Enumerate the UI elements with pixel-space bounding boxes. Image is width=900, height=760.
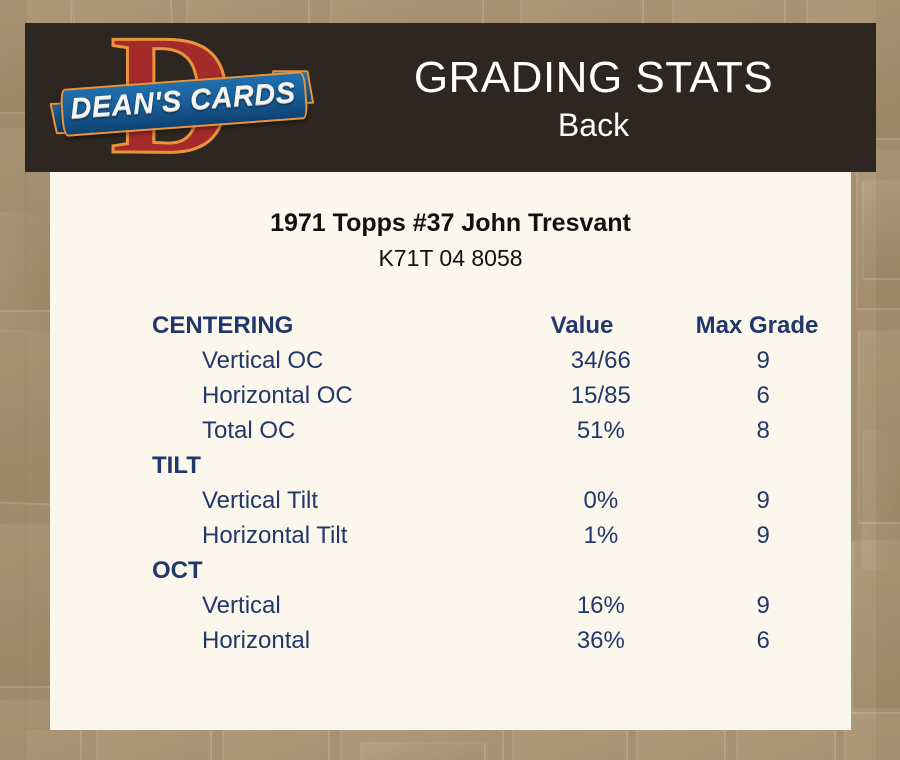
row-value: 34/66 xyxy=(517,347,684,375)
row-value: 1% xyxy=(517,522,684,550)
content-panel: 1971 Topps #37 John Tresvant K71T 04 805… xyxy=(50,172,851,730)
row-value: 15/85 xyxy=(517,382,684,410)
row-label: Horizontal xyxy=(152,627,517,655)
grading-stats-table: CENTERING Value Max Grade Vertical OC 34… xyxy=(152,312,842,662)
row-value: 51% xyxy=(517,417,684,445)
deans-cards-logo[interactable]: D DEAN'S CARDS xyxy=(53,25,311,170)
row-max-grade: 8 xyxy=(684,417,842,445)
row-label: Vertical Tilt xyxy=(152,487,517,515)
section-header-centering: CENTERING xyxy=(152,312,492,340)
row-max-grade: 9 xyxy=(684,592,842,620)
table-row: Horizontal OC 15/85 6 xyxy=(152,382,842,417)
row-value: 36% xyxy=(517,627,684,655)
row-value: 0% xyxy=(517,487,684,515)
row-max-grade: 9 xyxy=(684,522,842,550)
table-row: Horizontal Tilt 1% 9 xyxy=(152,522,842,557)
row-label: Horizontal OC xyxy=(152,382,517,410)
section-header-oct: OCT xyxy=(152,557,492,585)
card-title: 1971 Topps #37 John Tresvant xyxy=(50,208,851,238)
section-header-row: TILT xyxy=(152,452,842,487)
section-header-row: OCT xyxy=(152,557,842,592)
table-row: Vertical 16% 9 xyxy=(152,592,842,627)
table-header-row: CENTERING Value Max Grade xyxy=(152,312,842,347)
table-row: Horizontal 36% 6 xyxy=(152,627,842,662)
page-title: GRADING STATS xyxy=(414,51,773,105)
header-bar: D DEAN'S CARDS GRADING STATS Back xyxy=(25,23,876,172)
page-subtitle: Back xyxy=(558,105,629,145)
table-row: Total OC 51% 8 xyxy=(152,417,842,452)
row-label: Horizontal Tilt xyxy=(152,522,517,550)
header-title-group: GRADING STATS Back xyxy=(311,23,876,172)
row-max-grade: 6 xyxy=(684,382,842,410)
row-max-grade: 6 xyxy=(684,627,842,655)
row-max-grade: 9 xyxy=(684,487,842,515)
row-label: Total OC xyxy=(152,417,517,445)
column-header-max-grade: Max Grade xyxy=(672,312,842,340)
row-max-grade: 9 xyxy=(684,347,842,375)
section-header-tilt: TILT xyxy=(152,452,492,480)
table-row: Vertical Tilt 0% 9 xyxy=(152,487,842,522)
card-serial-number: K71T 04 8058 xyxy=(50,244,851,272)
logo-ribbon: DEAN'S CARDS xyxy=(53,72,311,134)
row-label: Vertical OC xyxy=(152,347,517,375)
row-value: 16% xyxy=(517,592,684,620)
column-header-value: Value xyxy=(492,312,672,340)
table-row: Vertical OC 34/66 9 xyxy=(152,347,842,382)
row-label: Vertical xyxy=(152,592,517,620)
